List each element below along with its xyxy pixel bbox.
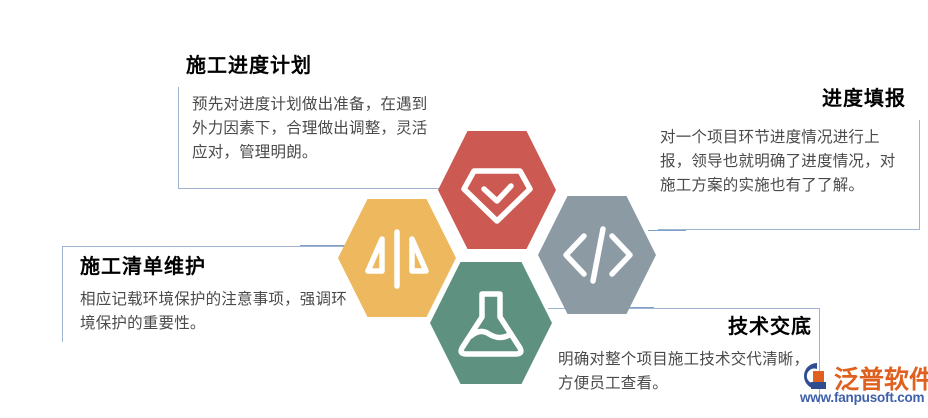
info-block-report: 进度填报 对一个项目环节进度情况进行上报，领导也就明确了进度情况，对施工方案的实… (658, 88, 920, 110)
block-body-report: 对一个项目环节进度情况进行上报，领导也就明确了进度情况，对施工方案的实施也有了了… (660, 126, 908, 198)
logo-mark-icon (800, 362, 834, 392)
block-body-list: 相应记载环境保护的注意事项，强调环境保护的重要性。 (80, 288, 356, 336)
block-title-report: 进度填报 (658, 88, 906, 110)
logo-website-url: www.fanpusoft.com (800, 390, 924, 405)
hexagon-tech[interactable] (430, 262, 552, 384)
company-logo: 泛普软件 www.fanpusoft.com (800, 360, 924, 410)
block-body-schedule: 预先对进度计划做出准备，在遇到外力因素下，合理做出调整，灵活应对，管理明朗。 (192, 93, 442, 165)
connector-line-report (648, 230, 686, 231)
hexagon-report[interactable] (538, 196, 656, 314)
block-title-schedule: 施工进度计划 (186, 55, 446, 77)
info-block-schedule: 施工进度计划 预先对进度计划做出准备，在遇到外力因素下，合理做出调整，灵活应对，… (178, 55, 446, 77)
infographic-canvas: 施工进度计划 预先对进度计划做出准备，在遇到外力因素下，合理做出调整，灵活应对，… (0, 0, 928, 418)
block-title-tech: 技术交底 (728, 316, 812, 338)
block-body-tech: 明确对整个项目施工技术交代清晰，方便员工查看。 (558, 348, 816, 396)
hexagon-schedule[interactable] (438, 131, 556, 249)
block-title-list: 施工清单维护 (80, 256, 206, 278)
